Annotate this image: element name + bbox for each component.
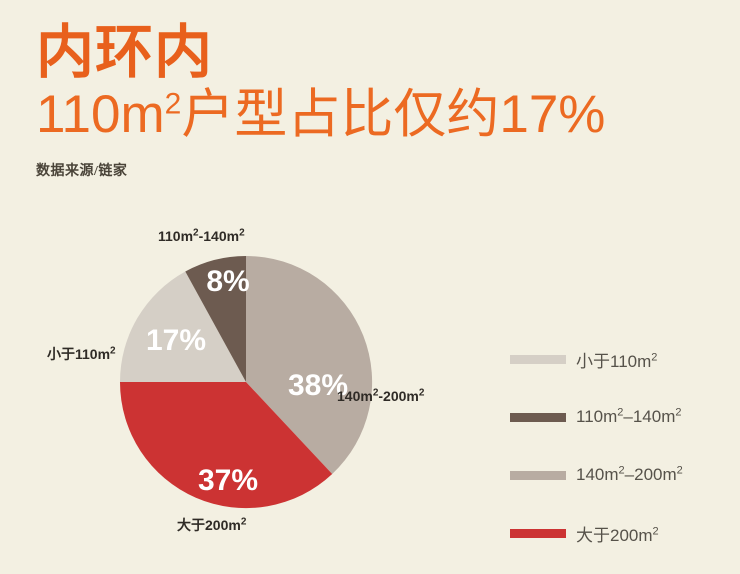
pie-label-gt200-sup: 2 xyxy=(241,516,247,527)
pie-value-lt110: 17% xyxy=(146,324,206,357)
legend-label-lt110-pre: 小于110m xyxy=(576,352,651,371)
title-sub-suffix: 户型占比仅约17% xyxy=(181,85,605,144)
pie-label-110-140-pre: 110m xyxy=(158,228,193,244)
pie-label-140-200-pre: 140m xyxy=(337,388,373,404)
title-sub-prefix: 110m xyxy=(36,85,165,144)
pie-label-lt110-pre: 小于110m xyxy=(47,346,110,362)
chart-legend: 小于110m2 110m2–140m2 140m2–200m2 大于200m2 xyxy=(510,330,720,562)
pie-label-lt110: 小于110m2 xyxy=(47,344,116,364)
legend-label-140-200-sup2: 2 xyxy=(677,464,683,476)
legend-item-lt110[interactable]: 小于110m2 xyxy=(510,330,720,388)
legend-label-110-140-sup2: 2 xyxy=(675,406,681,418)
legend-label-140-200-mid: –200m xyxy=(625,465,677,484)
legend-swatch-140-200 xyxy=(510,471,566,480)
legend-label-110-140: 110m2–140m2 xyxy=(576,407,682,427)
legend-item-140-200[interactable]: 140m2–200m2 xyxy=(510,446,720,504)
legend-label-lt110-sup: 2 xyxy=(651,351,657,363)
pie-label-110-140-sup2: 2 xyxy=(239,227,245,238)
header: 内环内 110m2户型占比仅约17% 数据来源/链家 xyxy=(36,22,716,180)
pie-label-gt200-pre: 大于200m xyxy=(177,517,241,533)
page-title-secondary: 110m2户型占比仅约17% xyxy=(36,86,716,144)
title-sub-superscript: 2 xyxy=(165,87,182,120)
pie-label-gt200: 大于200m2 xyxy=(177,515,246,535)
legend-swatch-gt200 xyxy=(510,529,566,538)
legend-item-110-140[interactable]: 110m2–140m2 xyxy=(510,388,720,446)
legend-swatch-lt110 xyxy=(510,355,566,364)
legend-label-110-140-pre: 110m xyxy=(576,407,617,426)
pie-label-lt110-sup: 2 xyxy=(110,345,116,356)
pie-label-140-200: 140m2-200m2 xyxy=(337,388,424,404)
legend-item-gt200[interactable]: 大于200m2 xyxy=(510,504,720,562)
pie-value-gt200: 37% xyxy=(198,464,258,497)
legend-label-gt200: 大于200m2 xyxy=(576,521,659,546)
legend-label-140-200-pre: 140m xyxy=(576,465,619,484)
legend-label-110-140-mid: –140m xyxy=(623,407,675,426)
legend-label-lt110: 小于110m2 xyxy=(576,347,657,372)
pie-chart: 38% 37% 17% 8% xyxy=(0,215,500,555)
legend-label-140-200: 140m2–200m2 xyxy=(576,465,683,485)
legend-label-gt200-pre: 大于200m xyxy=(576,526,653,545)
legend-swatch-110-140 xyxy=(510,413,566,422)
pie-chart-svg: 38% 37% 17% 8% xyxy=(0,215,500,555)
pie-label-110-140-mid: -140m xyxy=(199,228,239,244)
data-source-note: 数据来源/链家 xyxy=(36,160,716,180)
page-title-primary: 内环内 xyxy=(36,22,716,84)
pie-label-110-140: 110m2-140m2 xyxy=(158,228,245,244)
legend-label-gt200-sup: 2 xyxy=(653,525,659,537)
pie-label-140-200-sup2: 2 xyxy=(419,387,425,398)
pie-value-110-140: 8% xyxy=(206,265,249,298)
pie-label-140-200-mid: -200m xyxy=(378,388,418,404)
